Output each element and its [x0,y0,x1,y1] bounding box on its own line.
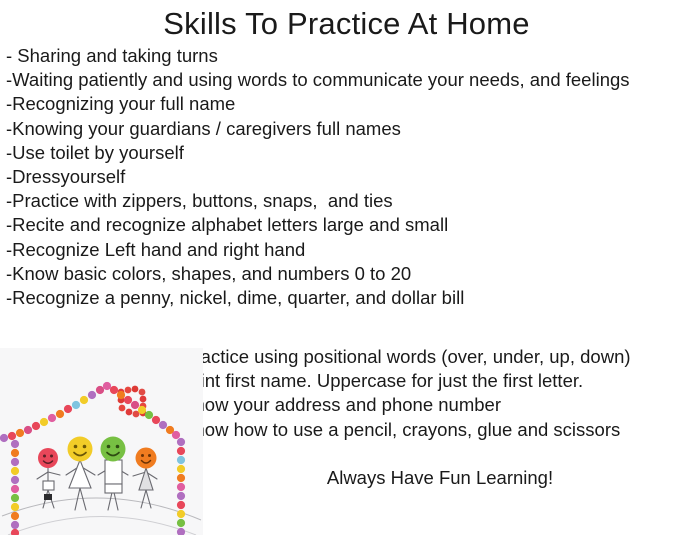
list-item: -Recognize Left hand and right hand [6,238,676,262]
head-child-left [38,448,58,468]
slide-canvas: Skills To Practice At Home - Sharing and… [0,0,693,535]
list-item: -Knowing your guardians / caregivers ful… [6,117,676,141]
list-item: - Sharing and taking turns [6,44,676,68]
right-wall-beads [177,438,185,535]
list-item: -Recognize a penny, nickel, dime, quarte… [6,286,676,310]
list-item: -Practice using positional words (over, … [176,345,691,369]
list-item: -Know your address and phone number [176,393,691,417]
list-item: -Print first name. Uppercase for just th… [176,369,691,393]
list-item: -Dressyourself [6,165,676,189]
list-item: -Know how to use a pencil, crayons, glue… [176,418,691,442]
head-parent-green [101,437,126,462]
head-child-right [136,448,157,469]
candy-house-illustration [0,348,203,535]
closing-message: Always Have Fun Learning! [205,466,675,490]
head-parent-yellow [68,437,93,462]
list-item: -Practice with zippers, buttons, snaps, … [6,189,676,213]
page-title: Skills To Practice At Home [0,6,693,42]
list-item: -Recognizing your full name [6,92,676,116]
skills-right-list: -Practice using positional words (over, … [176,345,691,442]
skills-main-list: - Sharing and taking turns -Waiting pati… [6,44,676,310]
list-item: -Waiting patiently and using words to co… [6,68,676,92]
candy-house-photo [0,348,203,535]
list-item: -Know basic colors, shapes, and numbers … [6,262,676,286]
list-item: -Use toilet by yourself [6,141,676,165]
list-item: -Recite and recognize alphabet letters l… [6,213,676,237]
